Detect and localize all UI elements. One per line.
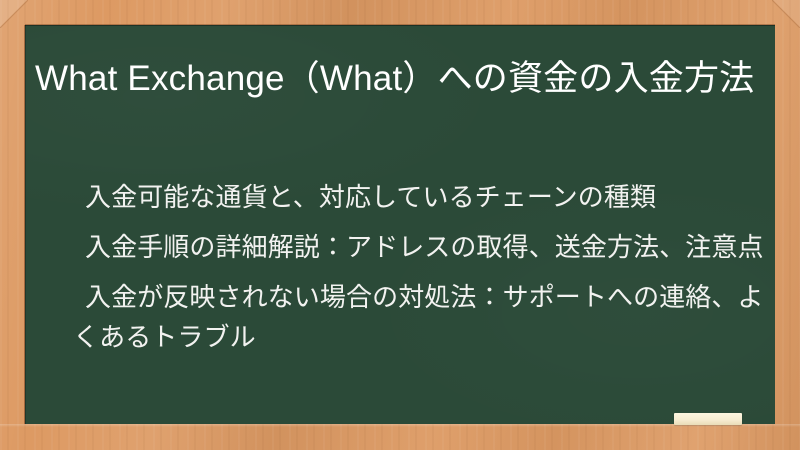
list-item: 入金が反映されない場合の対処法：サポートへの連絡、よくあるトラブル bbox=[73, 277, 773, 357]
list-item: 入金手順の詳細解説：アドレスの取得、送金方法、注意点 bbox=[73, 227, 773, 267]
list-item: 入金可能な通貨と、対応しているチェーンの種類 bbox=[73, 177, 773, 217]
chalkboard-frame: What Exchange（What）への資金の入金方法 入金可能な通貨と、対応… bbox=[0, 0, 800, 450]
key-points-list: 入金可能な通貨と、対応しているチェーンの種類 入金手順の詳細解説：アドレスの取得… bbox=[73, 177, 773, 357]
frame-corner-top-right bbox=[772, 0, 800, 28]
page-title: What Exchange（What）への資金の入金方法 bbox=[35, 56, 765, 102]
frame-corner-top-left bbox=[0, 0, 28, 28]
chalk-stick-icon bbox=[674, 413, 742, 425]
chalkboard-surface: What Exchange（What）への資金の入金方法 入金可能な通貨と、対応… bbox=[25, 25, 775, 424]
